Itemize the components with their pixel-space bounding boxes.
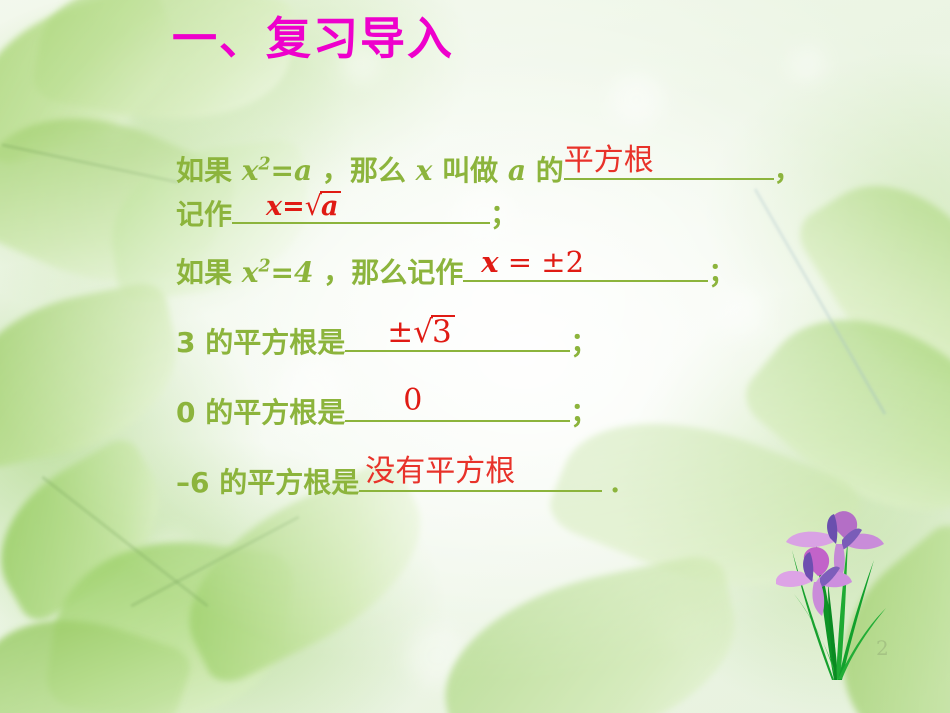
answer-1: 平方根: [564, 146, 774, 176]
line1-suffix: ，: [774, 154, 802, 187]
line1-variable-x: x: [242, 154, 259, 187]
answer-3-rhs: = ±2: [499, 245, 585, 279]
blank-line-6[interactable]: 没有平方根: [359, 462, 602, 492]
line1-variable-x2: x: [416, 154, 433, 187]
line1-prefix-a: 如果: [176, 154, 242, 187]
line1-variable-a: a: [508, 154, 526, 187]
page-title: 一、复习导入: [172, 14, 454, 64]
line4-prefix: 3 的平方根是: [176, 326, 345, 359]
line3-suffix: ；: [708, 256, 736, 289]
question-list: 如果 x2=a ，那么 x 叫做 a 的 平方根 ， 记作 x=√a ； 如果 …: [176, 146, 936, 518]
answer-4: ±√3: [345, 315, 570, 348]
line3-exponent: 2: [258, 257, 270, 277]
line2-suffix: ；: [490, 198, 518, 231]
line1-prefix-c: 叫做: [432, 154, 508, 187]
line1-prefix-b: ，那么: [312, 154, 416, 187]
question-line-3: 如果 x2=4 ，那么记作 x = ±2 ；: [176, 238, 936, 308]
answer-3: x = ±2: [463, 248, 708, 277]
blank-line-4[interactable]: ±√3: [345, 322, 570, 352]
radical-symbol-icon: √3: [413, 315, 457, 348]
question-line-4: 3 的平方根是 ±√3 ；: [176, 308, 936, 378]
presentation-slide: 一、复习导入 如果 x2=a ，那么 x 叫做 a 的 平方根 ， 记作 x=√…: [0, 0, 950, 713]
blank-line-2[interactable]: x=√a: [232, 194, 490, 224]
blank-line-3[interactable]: x = ±2: [463, 252, 708, 282]
line3-prefix-a: 如果: [176, 256, 242, 289]
line3-equals-4: =4: [271, 256, 314, 289]
question-line-2: 记作 x=√a ；: [176, 190, 936, 238]
line3-variable-x: x: [242, 256, 259, 289]
answer-2: x=√a: [232, 191, 490, 220]
line6-prefix: –6 的平方根是: [176, 466, 359, 499]
line5-prefix: 0 的平方根是: [176, 396, 345, 429]
answer-2-radicand: a: [320, 191, 342, 220]
line6-suffix: .: [602, 466, 620, 499]
blank-line-5[interactable]: 0: [345, 392, 570, 422]
answer-4-radicand: 3: [431, 315, 455, 348]
line1-equals-a: =a: [271, 154, 313, 187]
answer-6: 没有平方根: [359, 457, 602, 487]
question-line-1: 如果 x2=a ，那么 x 叫做 a 的 平方根 ，: [176, 146, 936, 190]
line3-prefix-b: ，那么记作: [314, 256, 464, 289]
answer-4-plusminus: ±: [387, 314, 413, 350]
iris-flower-clipart: [776, 498, 896, 683]
line2-prefix: 记作: [176, 198, 232, 231]
line4-suffix: ；: [570, 326, 598, 359]
line5-suffix: ；: [570, 396, 598, 429]
question-line-5: 0 的平方根是 0 ；: [176, 378, 936, 448]
answer-3-lhs: x: [481, 245, 498, 279]
blank-line-1[interactable]: 平方根: [564, 150, 774, 180]
line1-prefix-d: 的: [526, 154, 564, 187]
answer-2-lhs: x=: [266, 191, 305, 222]
answer-5: 0: [345, 386, 570, 416]
line1-exponent: 2: [258, 155, 270, 175]
radical-symbol-icon: √a: [305, 191, 344, 220]
